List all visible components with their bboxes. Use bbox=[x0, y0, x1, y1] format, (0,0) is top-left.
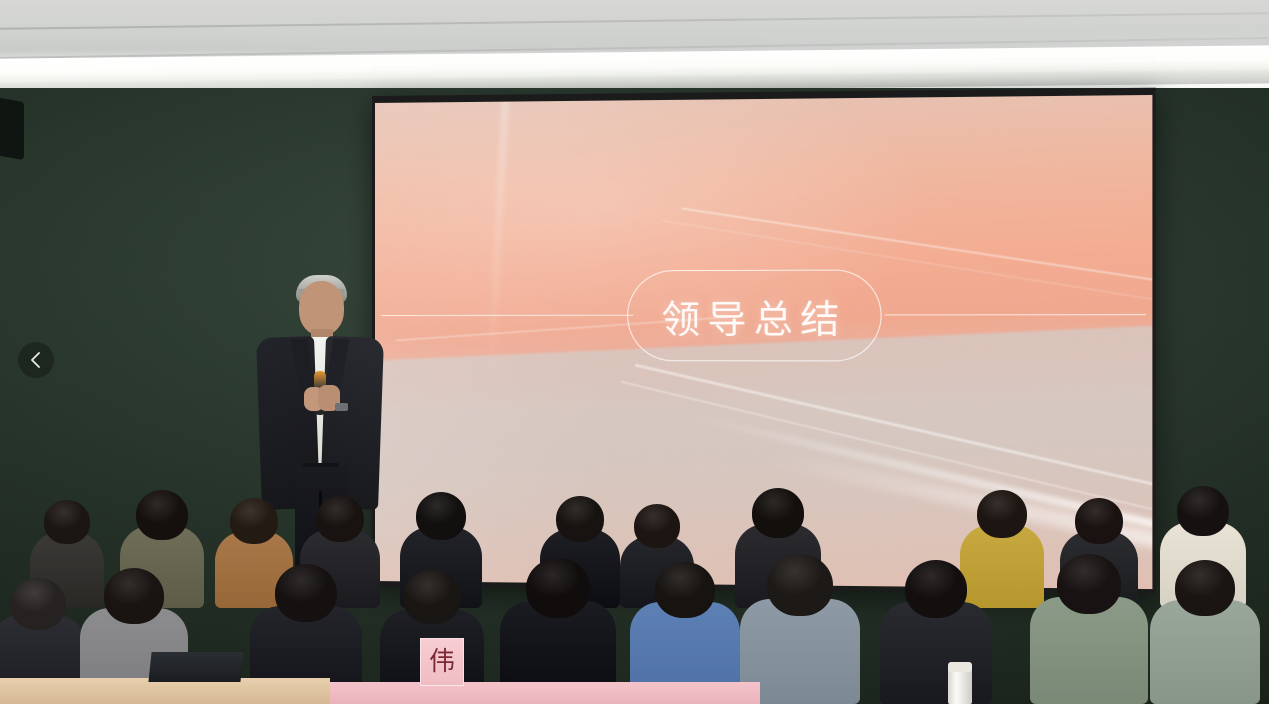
audience-person-head bbox=[655, 562, 715, 618]
audience-person-head bbox=[10, 578, 66, 630]
table-surface-center bbox=[330, 682, 760, 704]
audience-person-head bbox=[752, 488, 804, 538]
laptop bbox=[148, 652, 243, 682]
audience-person-head bbox=[977, 490, 1027, 538]
slide-title-pill: 领导总结 bbox=[627, 269, 882, 361]
audience-person-head bbox=[316, 496, 364, 542]
photo-viewer-stage: 领导总结 伟 bbox=[0, 0, 1269, 704]
previous-photo-button[interactable] bbox=[18, 342, 54, 378]
audience-person-head bbox=[1175, 560, 1235, 616]
audience-person-head bbox=[1057, 554, 1121, 614]
name-placard-text: 伟 bbox=[429, 649, 455, 675]
slide-title: 领导总结 bbox=[661, 287, 847, 343]
audience-person-head bbox=[767, 554, 833, 616]
audience-person bbox=[1150, 560, 1260, 704]
audience-person-head bbox=[634, 504, 680, 548]
presenter-wristwatch bbox=[335, 403, 348, 411]
name-placard: 伟 bbox=[420, 638, 464, 686]
audience-person-head bbox=[403, 570, 461, 624]
audience-person-head bbox=[905, 560, 967, 618]
audience: 伟 bbox=[0, 430, 1269, 704]
chevron-left-icon bbox=[29, 351, 43, 369]
audience-person-head bbox=[230, 498, 278, 544]
audience-person bbox=[880, 560, 992, 704]
audience-person-head bbox=[526, 558, 590, 618]
audience-person-head bbox=[104, 568, 164, 624]
ceiling-seam bbox=[0, 12, 1269, 30]
presenter-head bbox=[299, 281, 344, 335]
audience-person-head bbox=[556, 496, 604, 542]
audience-person-head bbox=[416, 492, 466, 540]
av-speaker-device bbox=[0, 98, 24, 160]
thermos-cap bbox=[948, 662, 972, 672]
audience-person-head bbox=[1075, 498, 1123, 544]
audience-person-head bbox=[275, 564, 337, 622]
audience-person-head bbox=[136, 490, 188, 540]
audience-person bbox=[1030, 554, 1148, 704]
audience-person-head bbox=[44, 500, 90, 544]
audience-person-head bbox=[1177, 486, 1229, 536]
